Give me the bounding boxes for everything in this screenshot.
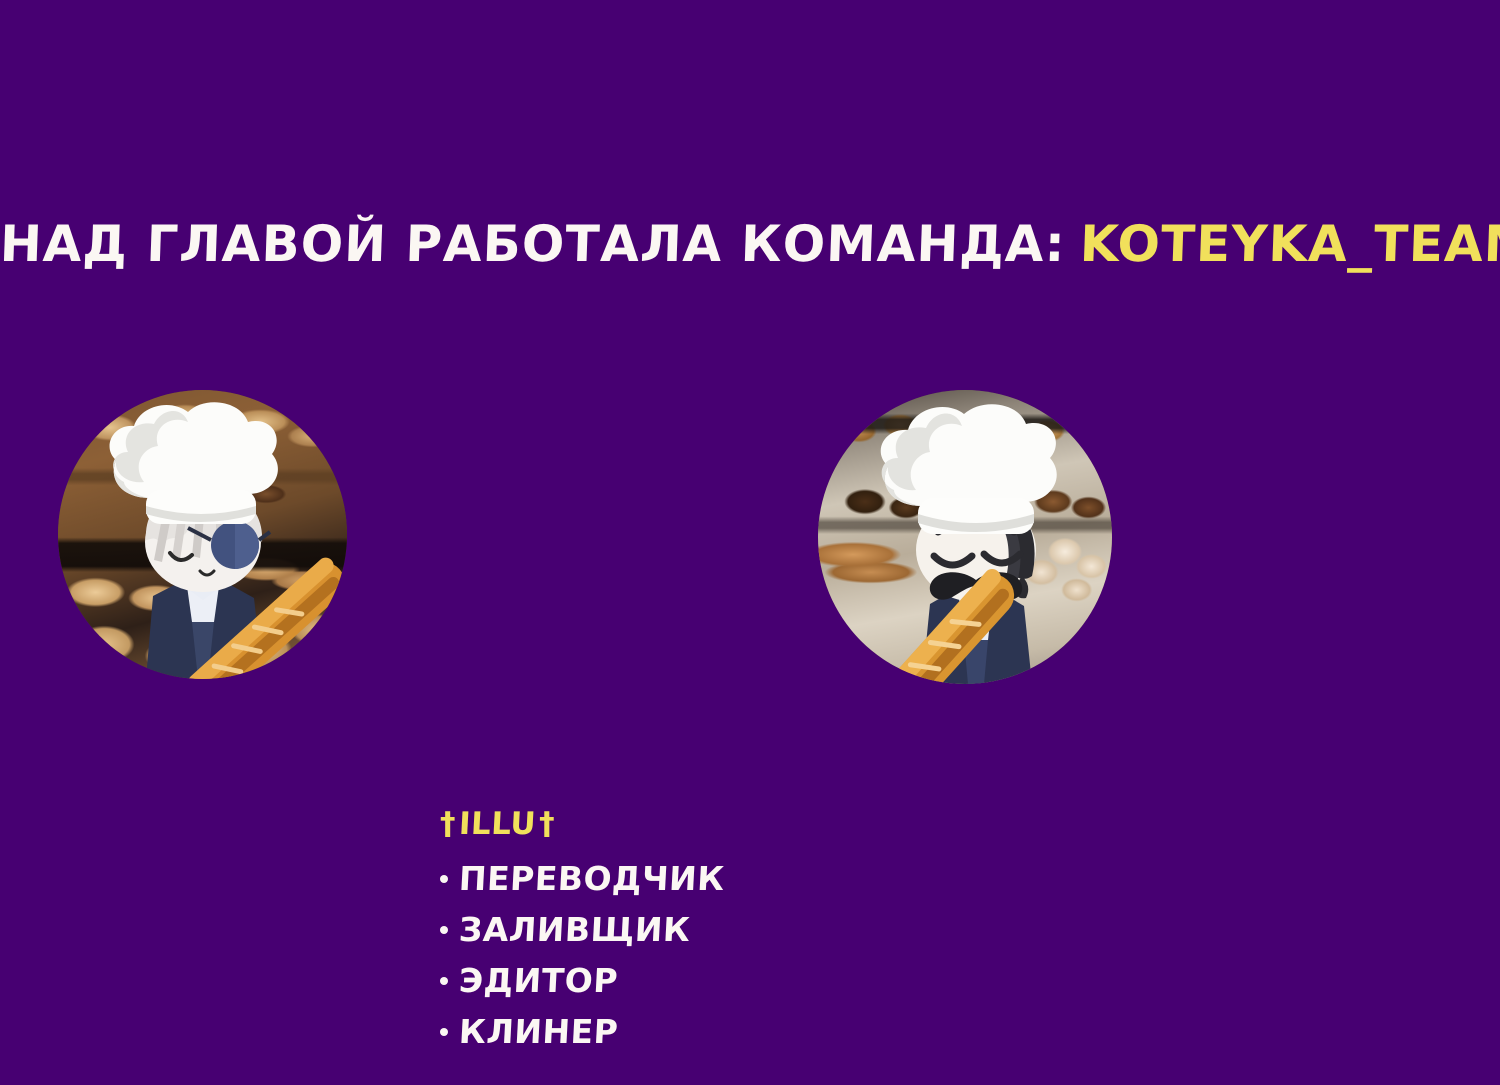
bullet-icon [440,977,448,985]
role-label: КЛИНЕР [458,1006,620,1057]
list-item: КЛИНЕР [440,1006,725,1057]
role-list-illu: ПЕРЕВОДЧИК ЗАЛИВЩИК ЭДИТОР КЛИНЕР [440,853,725,1057]
page-title: НАД ГЛАВОЙ РАБОТАЛА КОМАНДА:KOTEYKA_TEAM [0,216,1500,272]
chibi-character-illu [58,390,347,679]
dagger-icon-right: † [539,805,555,843]
chibi-character-wozwald [818,390,1112,684]
role-label: ПЕРЕВОДЧИК [458,853,726,904]
dagger-icon-left: † [440,805,456,843]
page-title-prefix: НАД ГЛАВОЙ РАБОТАЛА КОМАНДА: [0,216,1067,272]
list-item: ПЕРЕВОДЧИК [440,853,725,904]
list-item: ЭДИТОР [440,955,725,1006]
avatar [58,390,347,679]
team-name: KOTEYKA_TEAM [1079,216,1500,272]
member-name-illu: † ILLU † [440,805,725,843]
member-info-illu: † ILLU † ПЕРЕВОДЧИК ЗАЛИВЩИК ЭДИТОР [440,805,725,1057]
role-label: ЭДИТОР [458,955,620,1006]
credits-page: НАД ГЛАВОЙ РАБОТАЛА КОМАНДА:KOTEYKA_TEAM [0,0,1500,1085]
member-name-text: ILLU [458,805,537,843]
bullet-icon [440,875,448,883]
bullet-icon [440,1028,448,1036]
bullet-icon [440,926,448,934]
avatar [818,390,1112,684]
role-label: ЗАЛИВЩИК [458,904,692,955]
list-item: ЗАЛИВЩИК [440,904,725,955]
